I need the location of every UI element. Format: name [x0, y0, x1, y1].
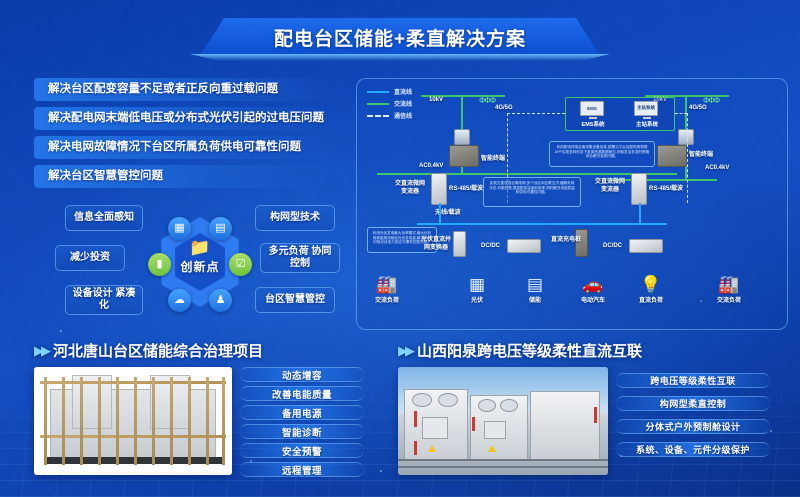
comm-label-left: 4G/5G [495, 105, 513, 111]
ems-monitor: EMS EMS系统 [580, 101, 606, 128]
load-label-ac-left: 交流负荷 [359, 295, 415, 304]
factory-icon-2: 🏭 [701, 275, 757, 294]
project-body-2: 跨电压等级柔性互联 构网型柔直控制 分体式户外预制舱设计 系统、设备、元件分级保… [398, 367, 770, 475]
fence-overlay [40, 377, 226, 465]
dc-drop-right [639, 203, 641, 225]
monitor-stand-icon-2 [643, 117, 651, 119]
pv-inverter-device [453, 231, 466, 257]
callout-master: 利用配电终端全面采集设备信息,部署云平台及配电侧物联APP实现多种形态下各类资源… [549, 141, 655, 167]
load-label-ac-right: 交流负荷 [701, 295, 757, 304]
smart-terminal-left-device [449, 145, 479, 167]
feature-safety-alert: 安全预警 [240, 443, 364, 458]
innovation-tag-smart-management: 台区智慧管控 [255, 287, 335, 313]
converter-left-device [431, 173, 447, 205]
terminal-label-left: 智能终端 [481, 153, 505, 162]
slide-canvas: 配电台区储能+柔直解决方案 解决台区配变容量不足或者正反向重过载问题 解决配电网… [0, 0, 800, 497]
hexagon-ring: ▦ ▤ ▮ ☑ ☁ ♟ 📁 创新点 [147, 209, 253, 315]
problem-list: 解决台区配变容量不足或者正反向重过载问题 解决配电网末端低电压或分布式光伏引起的… [34, 78, 334, 194]
legend-label-ac: 交流线 [394, 99, 412, 108]
feature-cross-voltage-link: 跨电压等级柔性互联 [616, 373, 770, 388]
converter-right-device [631, 173, 647, 205]
comm-label-right: 4G/5G [689, 105, 707, 111]
ems-master-group: EMS EMS系统 主站系统 主站系统 [565, 97, 675, 131]
feature-dynamic-capacity: 动态增容 [240, 367, 364, 382]
project-title-shanxi: 山西阳泉跨电压等级柔性直流互联 [417, 340, 642, 361]
ac-line-swatch [367, 103, 389, 105]
banner-base-glow [190, 54, 610, 61]
page-title: 配电台区储能+柔直解决方案 [274, 24, 526, 51]
transformer-right-icon [678, 129, 694, 145]
terminal-label-right: 智能终端 [689, 149, 713, 158]
comm-line-right [687, 113, 688, 203]
comm-line-swatch [367, 115, 389, 117]
converter-label-left: 交直流微网变流器 [393, 181, 427, 196]
load-ac-left: 🏭 交流负荷 [359, 275, 415, 304]
folder-icon: 📁 [171, 239, 229, 257]
project-title-hebei: 河北唐山台区储能综合治理项目 [53, 340, 263, 361]
load-label-dc: 直流负荷 [623, 295, 679, 304]
rs485-label-right: RS-485/载波 [649, 183, 683, 192]
legend-label-comm: 通信线 [394, 111, 412, 120]
voltage-label-left-hv: 10kV [429, 97, 443, 103]
ev-car-icon: 🚗 [565, 275, 621, 294]
master-monitor: 主站系统 主站系统 [634, 101, 660, 128]
problem-item-4: 解决台区智慧管控问题 [34, 165, 334, 188]
load-ev: 🚗 电动汽车 [565, 275, 621, 304]
pv-inverter-label: 光伏直流并网变换器 [419, 237, 453, 252]
project-body-1: 动态增容 改善电能质量 备用电源 智能诊断 安全预警 远程管理 [34, 367, 364, 481]
load-icon-row: 🏭 交流负荷 ▦ 光伏 ▤ 储能 🚗 电动汽车 💡 直流负荷 🏭 交流负荷 [357, 275, 789, 329]
innovation-wheel: 信息全面感知 减少投资 设备设计 紧凑化 构网型技术 多元负荷 协同控制 台区智… [55, 203, 345, 323]
load-dc: 💡 直流负荷 [623, 275, 679, 304]
dc-line-swatch [367, 91, 389, 93]
dcdc-left-device [507, 239, 541, 253]
comm-link-left [507, 113, 565, 114]
innovation-tag-compact-design: 设备设计 紧凑化 [65, 285, 143, 315]
legend-item-comm: 通信线 [367, 111, 439, 120]
double-arrow-icon-2: ▶▶ [398, 343, 412, 359]
monitor-stand-icon [589, 117, 597, 119]
cloud-icon: ☁ [168, 289, 191, 312]
feature-backup-power: 备用电源 [240, 405, 364, 420]
slide-title-banner: 配电台区储能+柔直解决方案 [200, 18, 600, 56]
converter-label-right: 交直流微网变流器 [593, 179, 627, 194]
transformer-left-icon [454, 129, 470, 145]
innovation-tag-reduce-investment: 减少投资 [55, 245, 125, 271]
master-caption: 主站系统 [634, 120, 660, 128]
double-arrow-icon: ▶▶ [34, 343, 48, 359]
server-icon: ▤ [209, 217, 232, 240]
feature-split-cabin-design: 分体式户外预制舱设计 [616, 419, 770, 434]
grid-icon: ▦ [168, 217, 191, 240]
feature-remote-management: 远程管理 [240, 462, 364, 477]
ems-caption: EMS系统 [580, 120, 606, 128]
converter-container-photo [398, 367, 608, 475]
load-pv: ▦ 光伏 [449, 275, 505, 304]
problem-item-2: 解决配电网末端低电压或分布式光伏引起的过电压问题 [34, 107, 334, 130]
smart-terminal-right-device [657, 145, 687, 167]
feature-power-quality: 改善电能质量 [240, 386, 364, 401]
master-screen-label: 主站系统 [634, 101, 658, 116]
voltage-label-right-lv: AC0.4kV [705, 165, 729, 171]
load-storage: ▤ 储能 [507, 275, 563, 304]
battery-icon: ▮ [148, 253, 171, 276]
project-card-hebei: ▶▶ 河北唐山台区储能综合治理项目 [34, 340, 364, 481]
dc-main-bus [417, 223, 667, 225]
load-label-storage: 储能 [507, 295, 563, 304]
ems-screen-label: EMS [580, 101, 604, 116]
problem-item-1: 解决台区配变容量不足或者正反向重过载问题 [34, 78, 334, 101]
project-title-row-2: ▶▶ 山西阳泉跨电压等级柔性直流互联 [398, 340, 770, 361]
load-label-pv: 光伏 [449, 295, 505, 304]
check-icon: ☑ [229, 253, 252, 276]
comm-link-right [675, 113, 687, 114]
project-title-row-1: ▶▶ 河北唐山台区储能综合治理项目 [34, 340, 364, 361]
people-icon: ♟ [209, 289, 232, 312]
voltage-label-left-lv: AC0.4kV [419, 163, 443, 169]
feature-smart-diagnosis: 智能诊断 [240, 424, 364, 439]
feature-tiered-protection: 系统、设备、元件分级保护 [616, 442, 770, 457]
dcdc-right-label: DC/DC [603, 243, 622, 249]
project-card-shanxi: ▶▶ 山西阳泉跨电压等级柔性直流互联 [398, 340, 770, 475]
innovation-tag-multiload-control: 多元负荷 协同控制 [260, 243, 340, 273]
diagram-legend: 直流线 交流线 通信线 [367, 87, 439, 123]
load-ac-right: 🏭 交流负荷 [701, 275, 757, 304]
storage-cabinet-photo [34, 367, 232, 475]
bulb-icon: 💡 [623, 275, 679, 294]
feature-list-shanxi: 跨电压等级柔性互联 构网型柔直控制 分体式户外预制舱设计 系统、设备、元件分级保… [616, 367, 770, 461]
dcdc-right-device [629, 239, 663, 253]
innovation-center-label: 创新点 [171, 258, 229, 275]
switchgear-right-icon: ΦΦΦ [703, 97, 719, 105]
solar-panel-icon: ▦ [449, 275, 505, 294]
innovation-tag-gridforming: 构网型技术 [255, 205, 335, 231]
dcdc-left-label: DC/DC [481, 243, 500, 249]
feature-gridforming-control: 构网型柔直控制 [616, 396, 770, 411]
problem-item-3: 解决电网故障情况下台区所属负荷供电可靠性问题 [34, 136, 334, 159]
charger-label: 直流充电桩 [549, 237, 583, 245]
legend-label-dc: 直流线 [394, 87, 412, 96]
dc-drop-left [439, 203, 441, 225]
battery-storage-icon: ▤ [507, 275, 563, 294]
hexagon-center: 📁 创新点 [171, 239, 229, 275]
system-architecture-diagram: 直流线 交流线 通信线 ΦΦΦ 10kV AC0.4kV ΦΦΦ 10kV AC… [356, 78, 788, 330]
feature-list-hebei: 动态增容 改善电能质量 备用电源 智能诊断 安全预警 远程管理 [240, 367, 364, 481]
switchgear-left-icon: ΦΦΦ [479, 97, 495, 105]
callout-microgrid: 实现交直流混合微电网,多个台区间互联互济,缓解负荷冲击,均衡负载,提高配变容量利… [483, 177, 581, 207]
factory-icon: 🏭 [359, 275, 415, 294]
innovation-tag-info-sensing: 信息全面感知 [65, 205, 143, 231]
rs485-label-left: RS-485/载波 [449, 183, 483, 192]
load-label-ev: 电动汽车 [565, 295, 621, 304]
